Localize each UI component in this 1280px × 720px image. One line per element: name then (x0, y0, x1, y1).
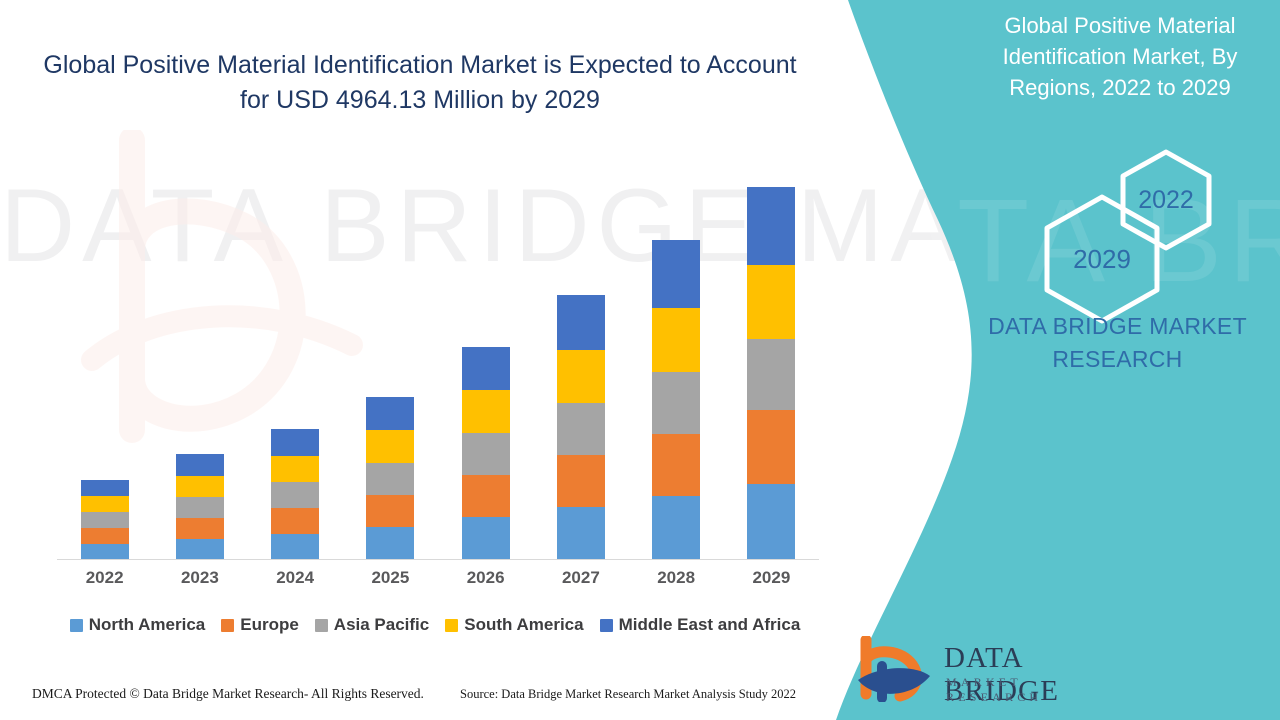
bar-segment (81, 512, 129, 528)
bar-segment (747, 410, 795, 484)
x-axis-labels: 20222023202420252026202720282029 (57, 568, 819, 596)
logo-mark-icon (852, 636, 934, 702)
panel-title: Global Positive Material Identification … (975, 10, 1265, 103)
bar-segment (652, 240, 700, 308)
bar-segment (652, 496, 700, 560)
bar-segment (176, 454, 224, 476)
bar-segment (462, 475, 510, 517)
bar-segment (462, 517, 510, 560)
legend-swatch-icon (445, 619, 458, 632)
x-axis-tick-label: 2028 (652, 568, 700, 596)
x-axis-line (57, 559, 819, 560)
legend-swatch-icon (70, 619, 83, 632)
bar-segment (747, 265, 795, 339)
bar-segment (747, 187, 795, 265)
bar-segment (557, 455, 605, 507)
x-axis-tick-label: 2024 (271, 568, 319, 596)
bar-segment (176, 476, 224, 497)
bar-segment (271, 456, 319, 482)
hexagon-2022: 2022 (1118, 148, 1214, 252)
brand-name: DATA BRIDGE MARKET RESEARCH (955, 310, 1280, 376)
legend-swatch-icon (315, 619, 328, 632)
bar-column (81, 480, 129, 560)
bar-segment (176, 497, 224, 518)
bar-column (176, 454, 224, 560)
hexagon-group: 2029 2022 (978, 148, 1268, 288)
bar-segment (81, 544, 129, 560)
bar-segment (652, 372, 700, 434)
bar-column (366, 397, 414, 560)
x-axis-tick-label: 2027 (557, 568, 605, 596)
company-logo: DATA BRIDGE MARKET RESEARCH (852, 630, 1092, 708)
bar-segment (366, 430, 414, 463)
x-axis-tick-label: 2026 (462, 568, 510, 596)
bar-segment (462, 433, 510, 475)
bar-column (747, 187, 795, 560)
bar-segment (366, 495, 414, 527)
legend-item[interactable]: South America (445, 615, 583, 635)
legend-label: North America (89, 615, 206, 635)
legend-label: Asia Pacific (334, 615, 429, 635)
bar-column (462, 347, 510, 560)
bar-segment (652, 434, 700, 496)
legend-swatch-icon (221, 619, 234, 632)
bar-segment (652, 308, 700, 372)
page-title: Global Positive Material Identification … (40, 48, 800, 118)
bar-segment (81, 480, 129, 496)
hexagon-2029-label: 2029 (1073, 244, 1131, 275)
logo-text-secondary: MARKET RESEARCH (946, 675, 1092, 705)
bar-segment (462, 390, 510, 433)
bar-segment (176, 518, 224, 539)
bar-segment (557, 507, 605, 560)
bar-segment (366, 527, 414, 560)
bar-segment (271, 508, 319, 534)
bar-segment (176, 539, 224, 560)
bar-segment (747, 484, 795, 560)
bar-column (271, 429, 319, 560)
bar-segment (557, 350, 605, 403)
hexagon-2022-label: 2022 (1138, 186, 1194, 215)
bar-segment (271, 482, 319, 508)
legend-item[interactable]: Asia Pacific (315, 615, 429, 635)
bar-segment (366, 463, 414, 495)
chart-legend: North AmericaEuropeAsia PacificSouth Ame… (40, 615, 830, 635)
bar-segment (462, 347, 510, 390)
dmca-notice: DMCA Protected © Data Bridge Market Rese… (32, 686, 424, 702)
x-axis-tick-label: 2022 (81, 568, 129, 596)
legend-label: Europe (240, 615, 299, 635)
bar-segment (747, 339, 795, 410)
bar-segment (271, 534, 319, 560)
legend-item[interactable]: Europe (221, 615, 299, 635)
bar-series-container (57, 160, 819, 560)
bar-column (652, 240, 700, 560)
source-note: Source: Data Bridge Market Research Mark… (460, 687, 796, 702)
infographic-root: DATA BRIDGE MARKET RESEARCH Global Posit… (0, 0, 1280, 720)
legend-label: Middle East and Africa (619, 615, 801, 635)
brand-panel: DATA BRIDGE MARKET RESEARCH Global Posit… (830, 0, 1280, 720)
bar-segment (557, 403, 605, 455)
x-axis-tick-label: 2025 (366, 568, 414, 596)
legend-item[interactable]: Middle East and Africa (600, 615, 801, 635)
legend-item[interactable]: North America (70, 615, 206, 635)
legend-label: South America (464, 615, 583, 635)
bar-segment (557, 295, 605, 350)
legend-swatch-icon (600, 619, 613, 632)
bar-segment (366, 397, 414, 430)
bar-segment (81, 496, 129, 512)
bar-segment (81, 528, 129, 544)
bar-segment (271, 429, 319, 456)
x-axis-tick-label: 2029 (747, 568, 795, 596)
bar-column (557, 295, 605, 560)
bar-chart-plot (57, 160, 819, 560)
x-axis-tick-label: 2023 (176, 568, 224, 596)
